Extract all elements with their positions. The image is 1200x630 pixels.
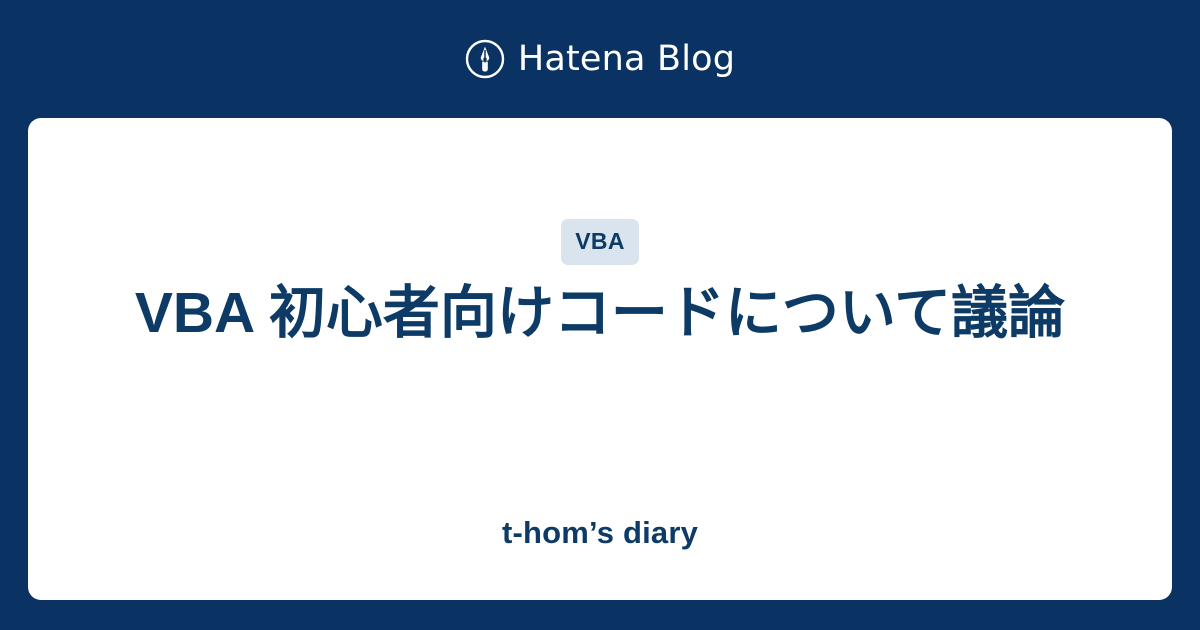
category-tag-vba[interactable]: VBA bbox=[561, 219, 638, 265]
hatena-blog-header: Hatena Blog bbox=[0, 0, 1200, 118]
hatena-pen-nib-icon bbox=[465, 39, 505, 79]
entry-card-content: VBA VBA 初心者向けコードについて議論 t-hom’s diary bbox=[28, 118, 1172, 600]
category-tag-row: VBA bbox=[28, 219, 1172, 265]
entry-title: VBA 初心者向けコードについて議論 bbox=[88, 276, 1112, 350]
hatena-blog-brand-label: Hatena Blog bbox=[518, 42, 735, 77]
entry-card: VBA VBA 初心者向けコードについて議論 t-hom’s diary bbox=[28, 118, 1172, 600]
blog-title: t-hom’s diary bbox=[88, 513, 1112, 553]
